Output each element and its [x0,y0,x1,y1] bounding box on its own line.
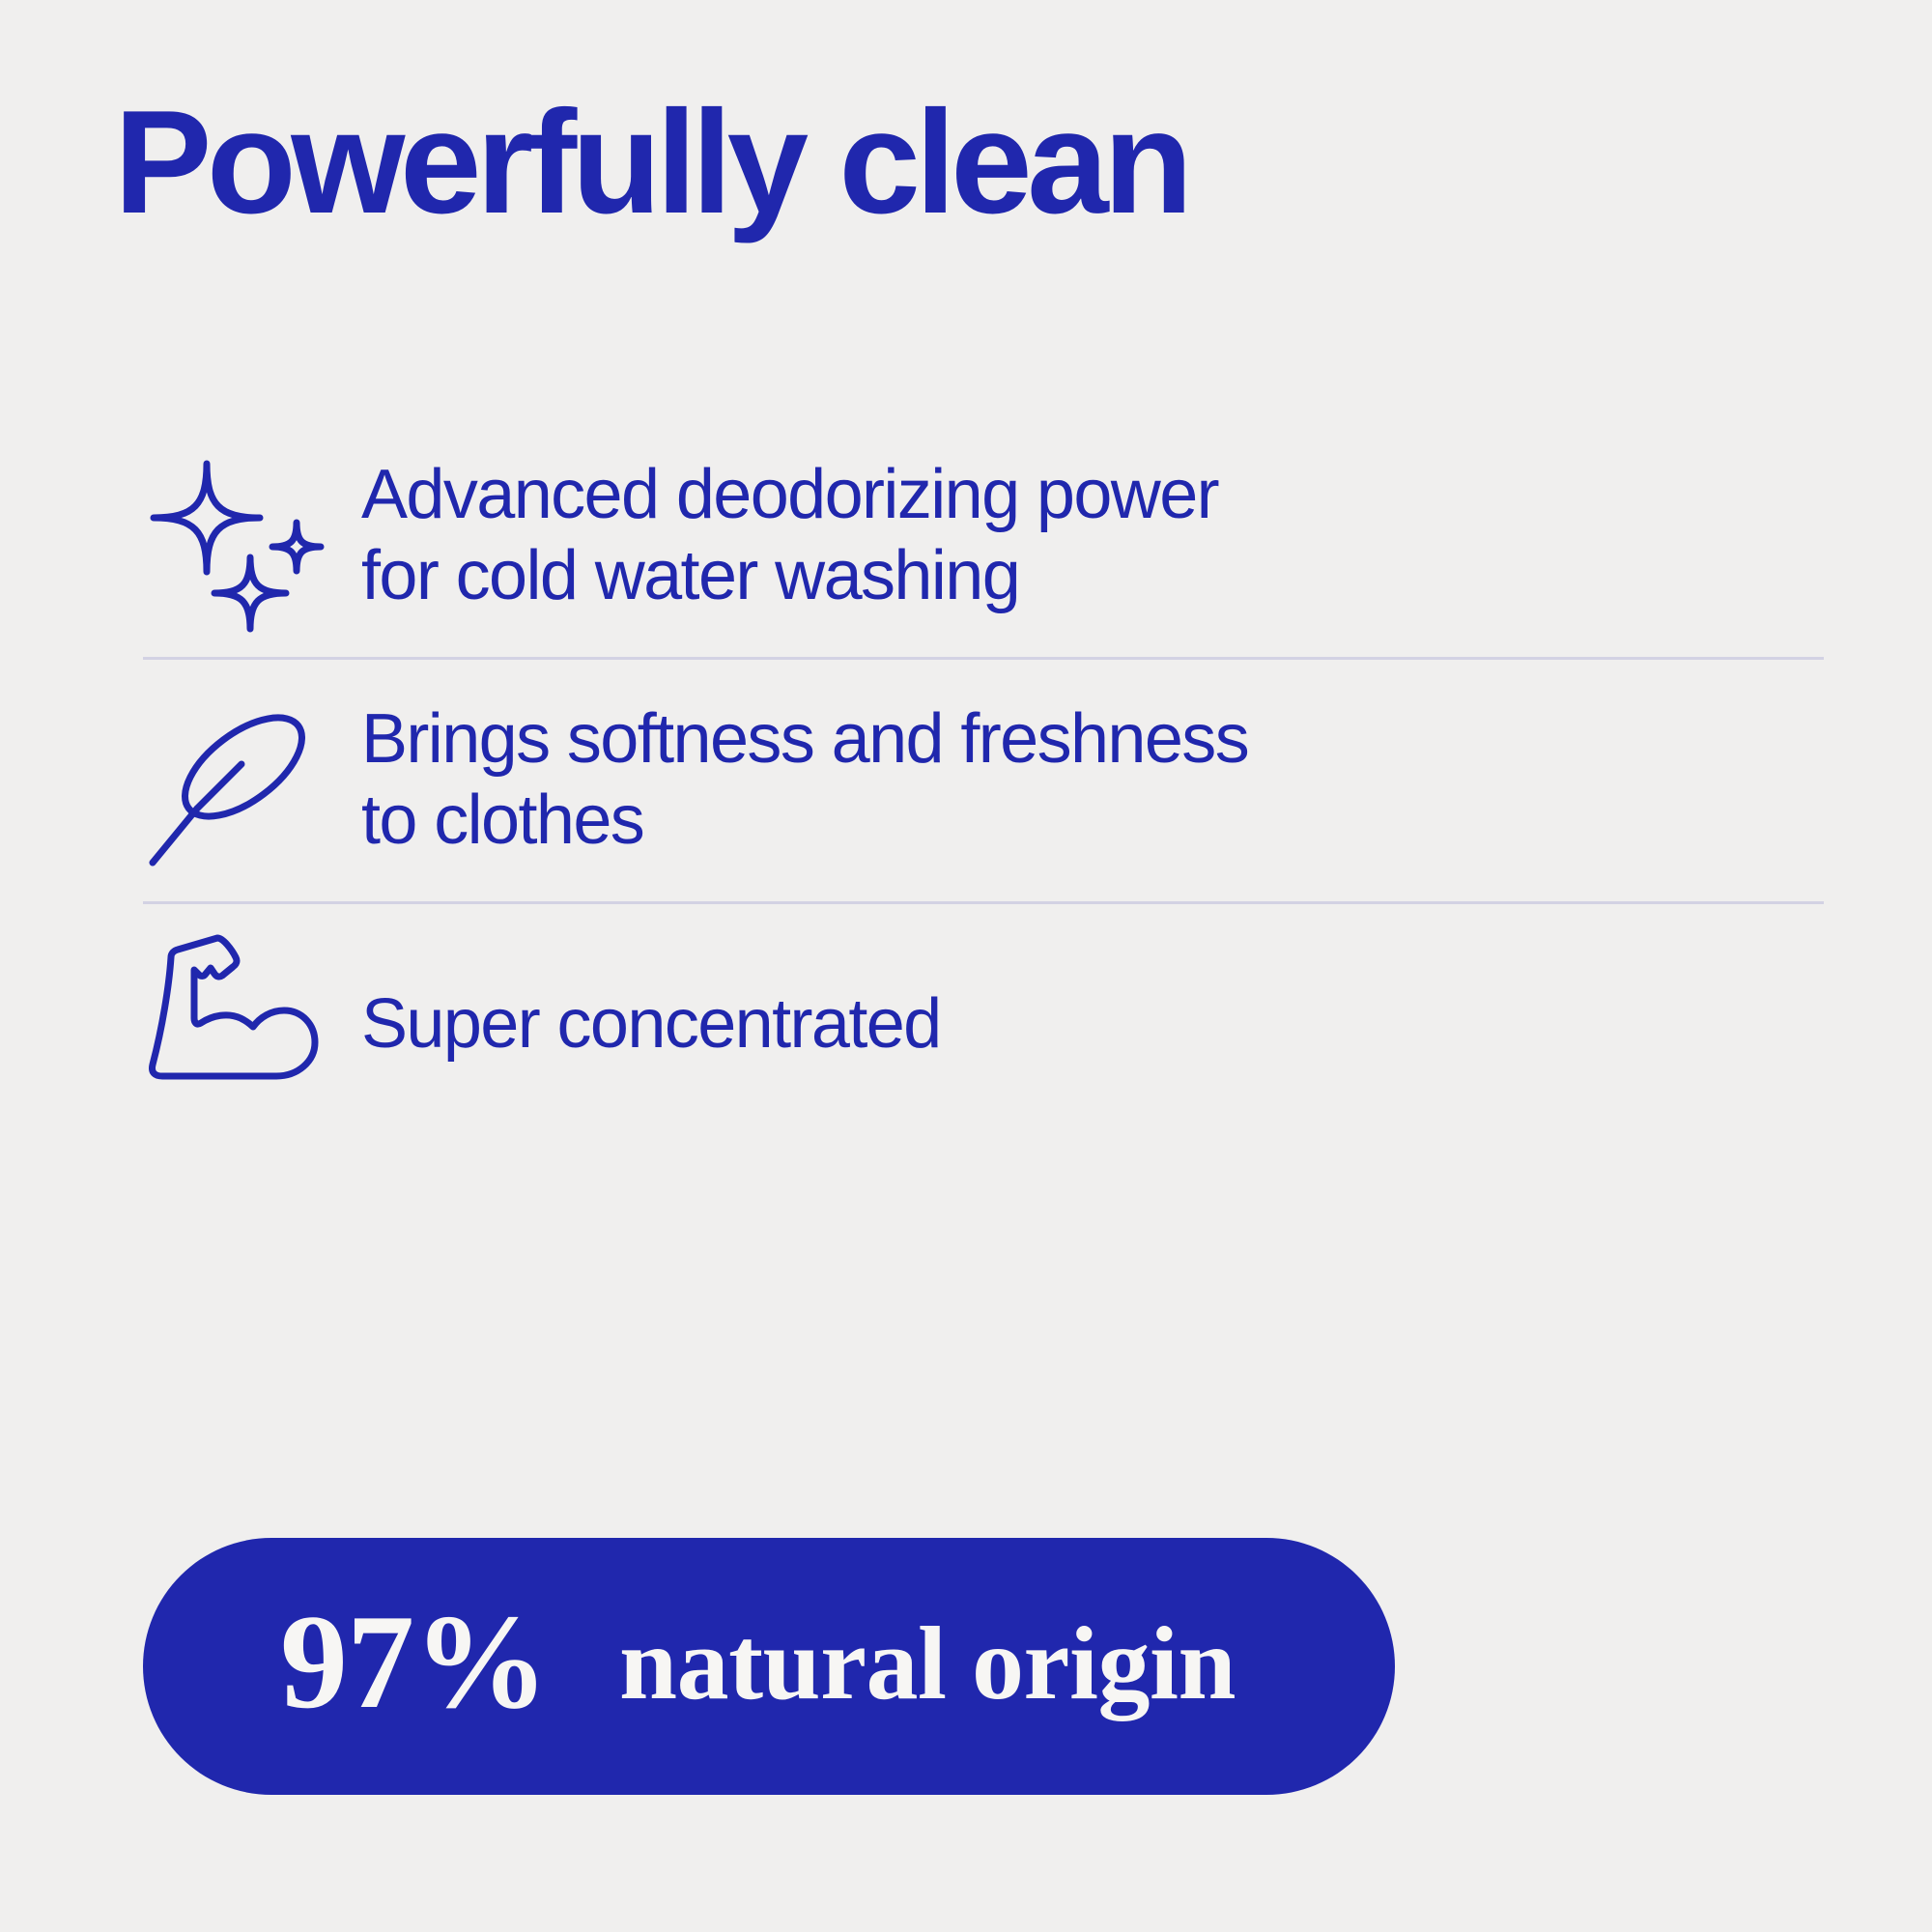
feature-row-softness: Brings softness and freshness to clothes [0,660,1932,901]
sparkles-icon [143,444,327,628]
feature-row-concentrated: Super concentrated [0,904,1932,1146]
feather-icon [143,689,327,872]
page-title: Powerfully clean [114,89,1188,236]
feature-text: Brings softness and freshness to clothes [361,699,1248,861]
badge-percent: 97% [280,1595,548,1730]
feature-text: Advanced deodorizing power for cold wate… [361,455,1218,616]
feature-text: Super concentrated [361,984,941,1065]
feature-row-deodorizing: Advanced deodorizing power for cold wate… [0,415,1932,657]
feature-list: Advanced deodorizing power for cold wate… [0,415,1932,1146]
poster-canvas: Powerfully clean Advanced deodorizing po… [0,0,1932,1932]
natural-origin-badge: 97% natural origin [143,1538,1395,1795]
badge-label: natural origin [619,1612,1236,1717]
flexed-bicep-icon [143,933,327,1117]
